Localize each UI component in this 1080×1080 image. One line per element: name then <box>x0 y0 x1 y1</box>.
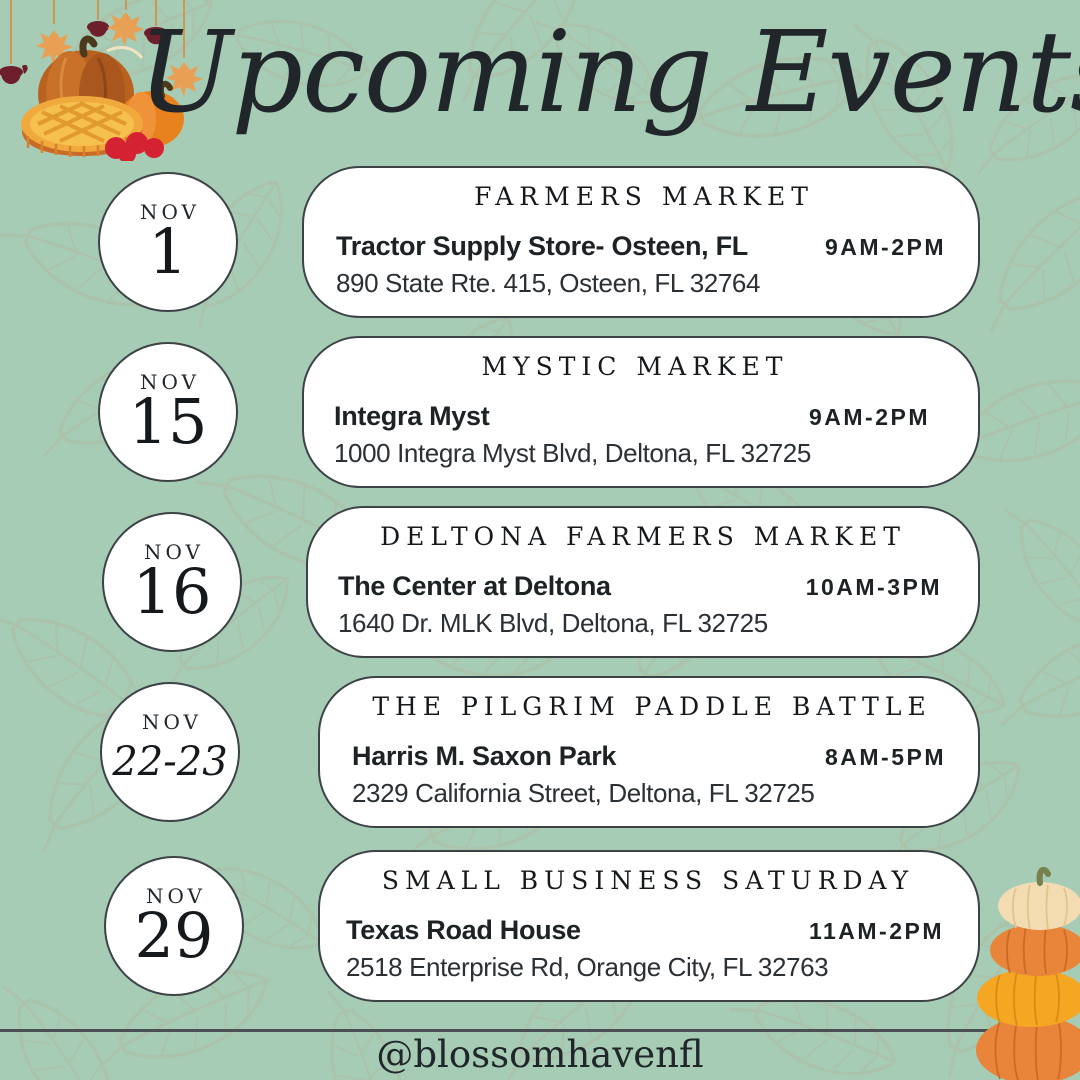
date-badge: NOV 1 <box>98 172 238 312</box>
event-address: 1000 Integra Myst Blvd, Deltona, FL 3272… <box>334 438 930 469</box>
event-address: 890 State Rte. 415, Osteen, FL 32764 <box>336 268 946 299</box>
event-address: 2329 California Street, Deltona, FL 3272… <box>352 778 946 809</box>
event-title: MYSTIC MARKET <box>334 352 930 381</box>
event-venue-time-row: Harris M. Saxon Park 8AM-5PM <box>352 741 946 772</box>
event-card[interactable]: FARMERS MARKET Tractor Supply Store- Ost… <box>302 166 980 318</box>
event-card[interactable]: THE PILGRIM PADDLE BATTLE Harris M. Saxo… <box>318 676 980 828</box>
page-title: Upcoming Events <box>138 0 1018 148</box>
event-card[interactable]: MYSTIC MARKET Integra Myst 9AM-2PM 1000 … <box>302 336 980 488</box>
event-title: FARMERS MARKET <box>336 182 946 211</box>
event-address: 1640 Dr. MLK Blvd, Deltona, FL 32725 <box>338 608 942 639</box>
event-venue: Tractor Supply Store- Osteen, FL <box>336 231 748 262</box>
event-card[interactable]: SMALL BUSINESS SATURDAY Texas Road House… <box>318 850 980 1002</box>
date-badge: NOV 22-23 <box>100 682 240 822</box>
event-venue-time-row: Tractor Supply Store- Osteen, FL 9AM-2PM <box>336 231 946 262</box>
date-day: 22-23 <box>112 730 227 794</box>
event-time: 8AM-5PM <box>825 744 946 771</box>
event-time: 10AM-3PM <box>806 574 942 601</box>
event-venue-time-row: Texas Road House 11AM-2PM <box>346 915 944 946</box>
social-handle[interactable]: @blossomhavenfl <box>0 1032 1080 1078</box>
poster-canvas: Upcoming Events NOV 1 FARMERS MARKET Tra… <box>0 0 1080 1080</box>
event-venue-time-row: Integra Myst 9AM-2PM <box>334 401 930 432</box>
event-address: 2518 Enterprise Rd, Orange City, FL 3276… <box>346 952 944 983</box>
event-venue: Integra Myst <box>334 401 489 432</box>
event-title: THE PILGRIM PADDLE BATTLE <box>352 692 946 721</box>
date-day: 16 <box>133 560 212 624</box>
event-venue: Texas Road House <box>346 915 581 946</box>
date-badge: NOV 29 <box>104 856 244 996</box>
event-time: 9AM-2PM <box>809 404 930 431</box>
date-day: 15 <box>129 390 208 454</box>
event-venue: Harris M. Saxon Park <box>352 741 616 772</box>
event-title: SMALL BUSINESS SATURDAY <box>346 866 944 895</box>
event-card[interactable]: DELTONA FARMERS MARKET The Center at Del… <box>306 506 980 658</box>
event-time: 9AM-2PM <box>825 234 946 261</box>
stacked-pumpkins-illustration <box>962 858 1080 1080</box>
date-day: 1 <box>148 220 187 284</box>
event-time: 11AM-2PM <box>809 918 944 945</box>
event-venue: The Center at Deltona <box>338 571 611 602</box>
date-badge: NOV 15 <box>98 342 238 482</box>
date-badge: NOV 16 <box>102 512 242 652</box>
date-day: 29 <box>135 904 214 968</box>
event-title: DELTONA FARMERS MARKET <box>338 522 942 551</box>
event-venue-time-row: The Center at Deltona 10AM-3PM <box>338 571 942 602</box>
